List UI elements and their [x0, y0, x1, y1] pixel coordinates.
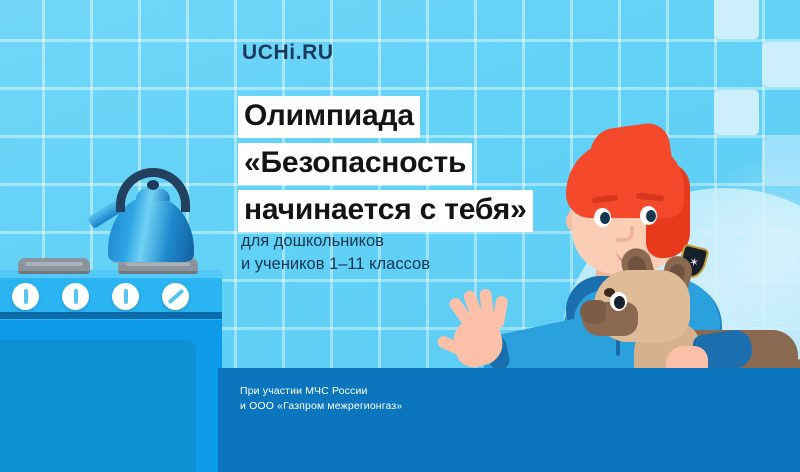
subtitle-line-1: для дошкольников — [241, 230, 430, 253]
knob-indicator-icon — [74, 289, 78, 304]
knob-indicator-icon — [167, 289, 184, 305]
dog-snout — [580, 300, 606, 324]
uchi-ru-logo[interactable]: UCHi.RU — [242, 41, 334, 65]
accent-tile — [714, 0, 759, 39]
headline-line-3: начинается с тебя» — [238, 190, 533, 232]
stove-knob — [12, 283, 39, 310]
headline-line-1: Олимпиада — [238, 96, 420, 138]
partners-credit: При участии МЧС России и ООО «Газпром ме… — [240, 384, 402, 414]
stove-knob-off — [162, 283, 189, 310]
headline-line-2: «Безопасность — [238, 143, 472, 185]
grate-bar — [25, 262, 83, 266]
page-title: Олимпиада «Безопасность начинается с теб… — [238, 96, 568, 237]
boy-pupil — [646, 210, 656, 222]
dog-pupil — [614, 296, 625, 309]
boy-pupil — [600, 212, 610, 224]
promo-banner: ✶ При участии МЧС России и ОО — [0, 0, 800, 472]
partners-credit-line-2: и ООО «Газпром межрегионгаз» — [240, 399, 402, 414]
boy-finger — [491, 295, 508, 329]
knob-indicator-icon — [24, 289, 28, 304]
partners-credit-line-1: При участии МЧС России — [240, 384, 402, 399]
knob-indicator-icon — [124, 289, 128, 304]
stove-knob — [112, 283, 139, 310]
subtitle-line-2: и учеников 1–11 классов — [241, 253, 430, 276]
accent-tile — [762, 42, 800, 87]
kettle-handle — [116, 168, 190, 212]
stove-panel-edge — [0, 312, 222, 319]
burner-grate-left — [18, 258, 90, 274]
stove-oven-door — [0, 340, 196, 472]
audience-subtitle: для дошкольников и учеников 1–11 классов — [241, 230, 430, 276]
gas-stove-illustration — [0, 0, 240, 472]
stove-knob — [62, 283, 89, 310]
